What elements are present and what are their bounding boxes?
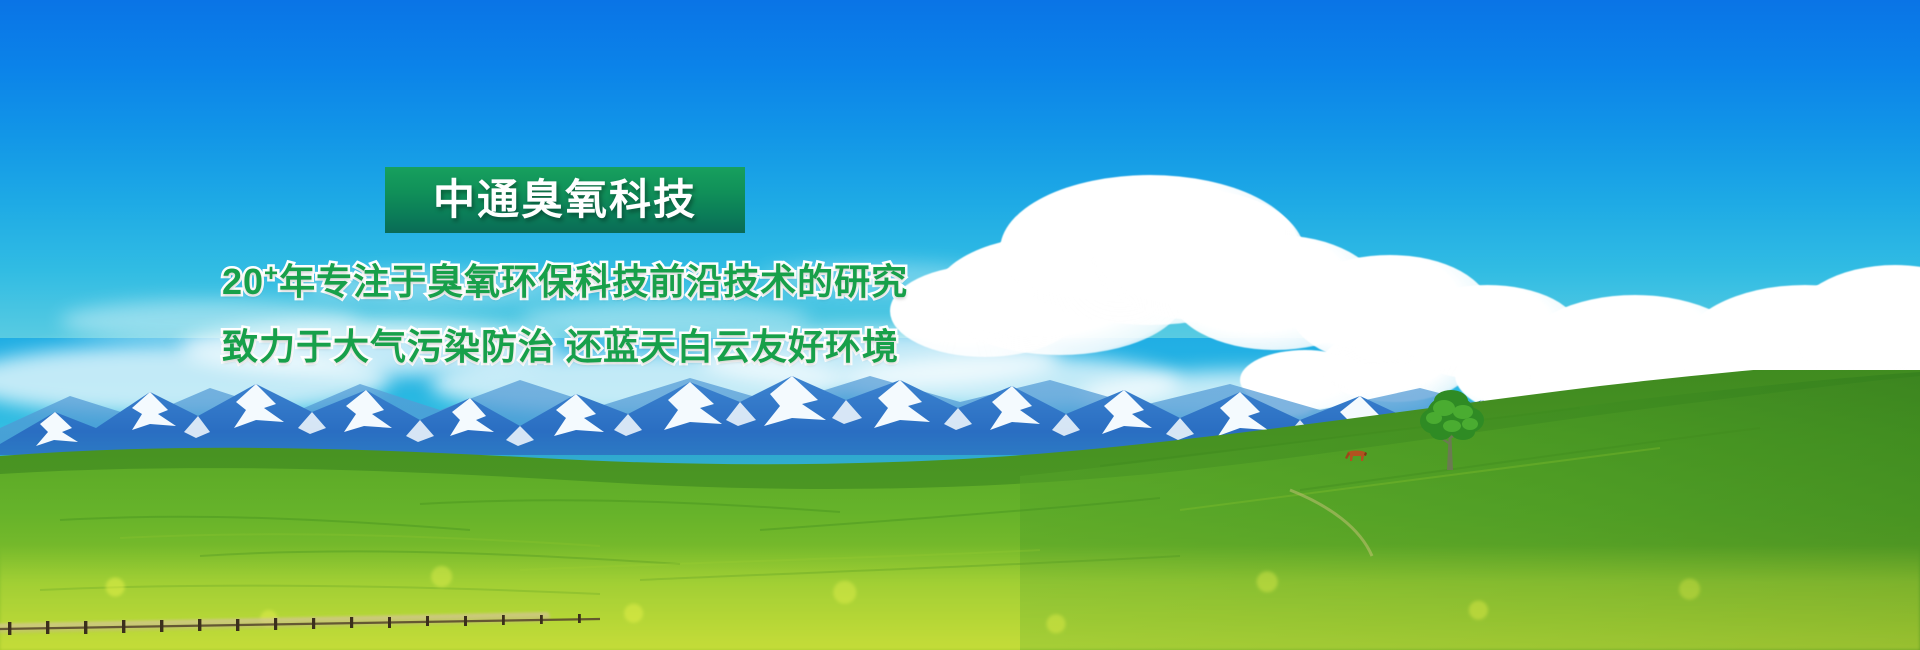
brand-title-box: 中通臭氧科技 <box>385 167 745 233</box>
tagline-line-1: 20+年专注于臭氧环保科技前沿技术的研究 <box>222 262 908 300</box>
text-overlay: 中通臭氧科技 20+年专注于臭氧环保科技前沿技术的研究 致力于大气污染防治 还蓝… <box>0 0 1920 650</box>
tagline-1-rest: 年专注于臭氧环保科技前沿技术的研究 <box>279 261 908 302</box>
hero-banner: 中通臭氧科技 20+年专注于臭氧环保科技前沿技术的研究 致力于大气污染防治 还蓝… <box>0 0 1920 650</box>
tagline-1-superscript: + <box>264 260 279 287</box>
tagline-1-prefix: 20 <box>222 261 264 302</box>
brand-name: 中通臭氧科技 <box>433 179 697 221</box>
tagline-2-rest: 致力于大气污染防治 还蓝天白云友好环境 <box>222 326 899 367</box>
tagline-line-2: 致力于大气污染防治 还蓝天白云友好环境 <box>222 327 899 365</box>
